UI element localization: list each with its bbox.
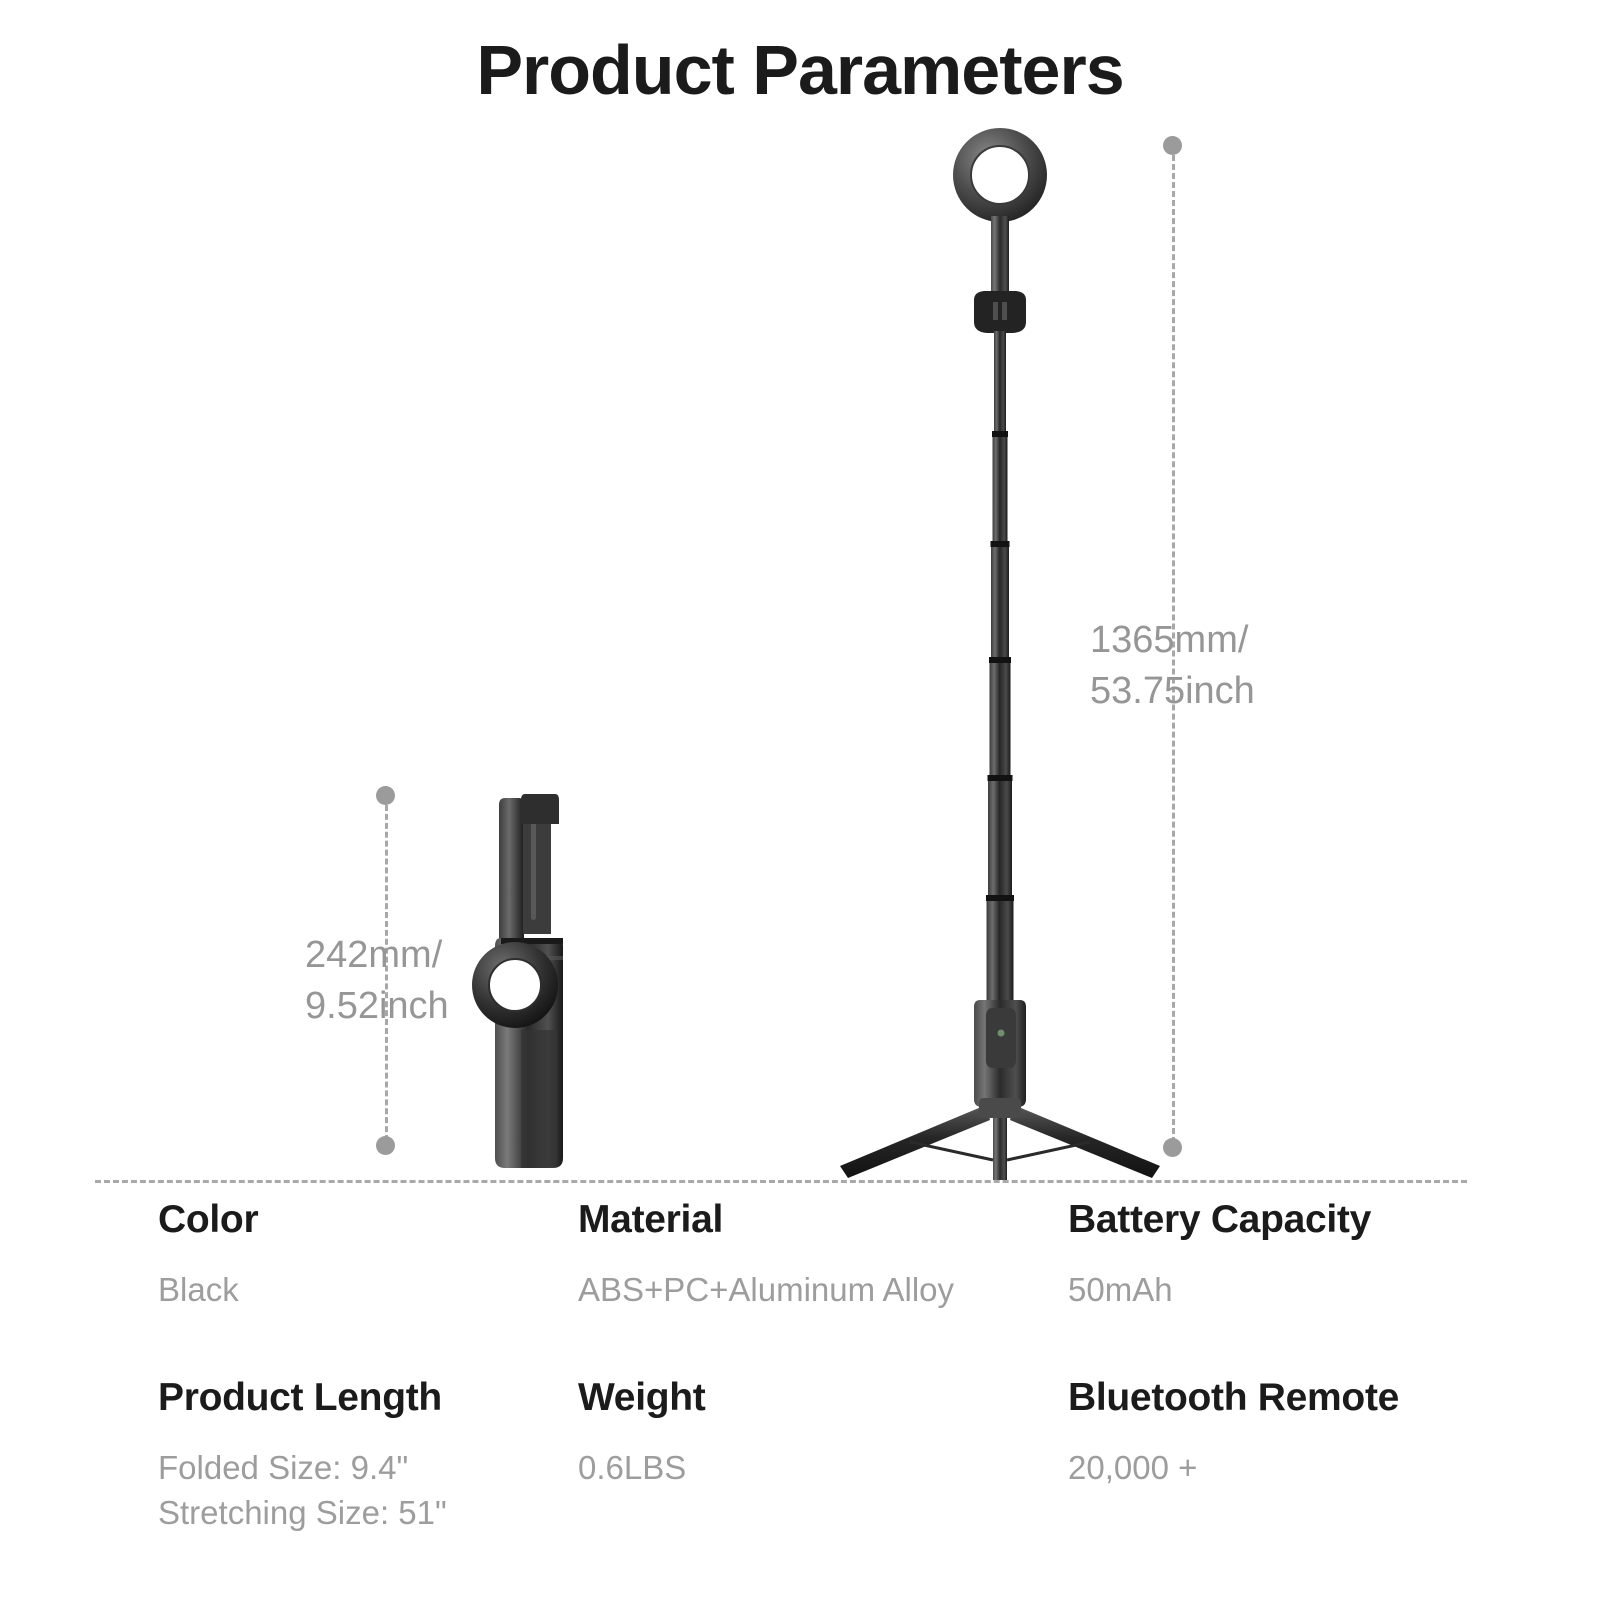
spec-key: Color — [158, 1198, 258, 1242]
dimension-dot-top — [1163, 136, 1182, 155]
spec-key: Material — [578, 1198, 954, 1242]
spec-value: Black — [158, 1268, 258, 1313]
spec-row: Color Black Material ABS+PC+Aluminum All… — [0, 1180, 1600, 1358]
spec-key: Product Length — [158, 1376, 447, 1420]
spec-cell-weight: Weight 0.6LBS — [578, 1376, 705, 1491]
spec-cell-material: Material ABS+PC+Aluminum Alloy — [578, 1198, 954, 1313]
dimension-dot-top — [376, 786, 395, 805]
spec-value: ABS+PC+Aluminum Alloy — [578, 1268, 954, 1313]
spec-cell-color: Color Black — [158, 1198, 258, 1313]
spec-key: Bluetooth Remote — [1068, 1376, 1399, 1420]
product-parameters-page: Product Parameters — [0, 0, 1600, 1600]
spec-value: 0.6LBS — [578, 1446, 705, 1491]
dimension-label-extended: 1365mm/ 53.75inch — [1090, 615, 1255, 716]
spec-row: Product Length Folded Size: 9.4" Stretch… — [0, 1358, 1600, 1536]
dimension-dot-bottom — [1163, 1138, 1182, 1157]
spec-divider — [95, 1180, 1467, 1183]
folded-tripod-illustration — [455, 780, 615, 1180]
spec-cell-battery-capacity: Battery Capacity 50mAh — [1068, 1198, 1371, 1313]
spec-value: 20,000 + — [1068, 1446, 1399, 1491]
specifications-table: Color Black Material ABS+PC+Aluminum All… — [0, 1180, 1600, 1536]
spec-value: Folded Size: 9.4" Stretching Size: 51" — [158, 1446, 447, 1535]
dimension-label-folded: 242mm/ 9.52inch — [305, 930, 449, 1031]
spec-cell-product-length: Product Length Folded Size: 9.4" Stretch… — [158, 1376, 447, 1535]
spec-key: Weight — [578, 1376, 705, 1420]
spec-key: Battery Capacity — [1068, 1198, 1371, 1242]
spec-value: 50mAh — [1068, 1268, 1371, 1313]
spec-cell-bluetooth-remote: Bluetooth Remote 20,000 + — [1068, 1376, 1399, 1491]
page-title: Product Parameters — [0, 30, 1600, 110]
dimension-dot-bottom — [376, 1136, 395, 1155]
